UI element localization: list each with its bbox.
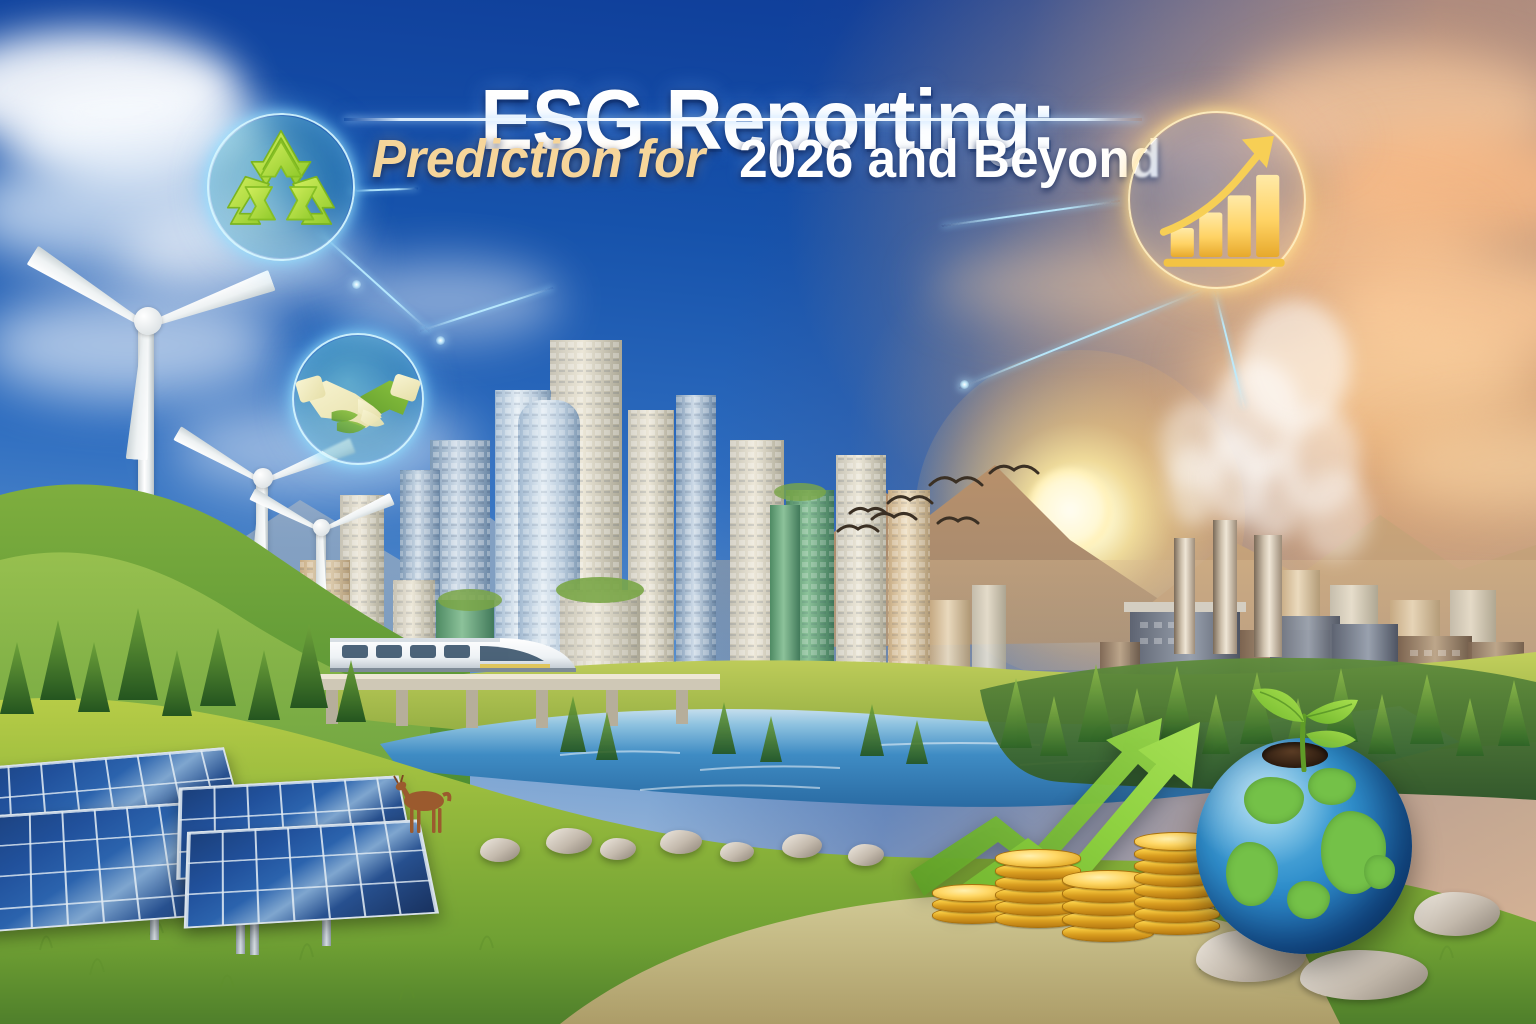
handshake-badge[interactable] — [292, 333, 424, 465]
growth-chart-badge[interactable] — [1128, 111, 1306, 289]
recycle-badge[interactable] — [207, 113, 355, 261]
handshake-icon — [292, 333, 424, 465]
growth-chart-icon — [1128, 111, 1306, 289]
subtitle-rest: 2026 and Beyond — [740, 132, 1162, 186]
deer — [388, 775, 458, 837]
chart-bars — [1171, 175, 1280, 257]
subtitle-emphasis: Prediction for — [372, 132, 705, 186]
recycle-icon — [207, 113, 355, 261]
globe-sprout — [1240, 682, 1380, 772]
poster-canvas: ESG Reporting: Prediction for2026 and Be… — [0, 0, 1536, 1024]
title-divider — [344, 118, 1142, 121]
